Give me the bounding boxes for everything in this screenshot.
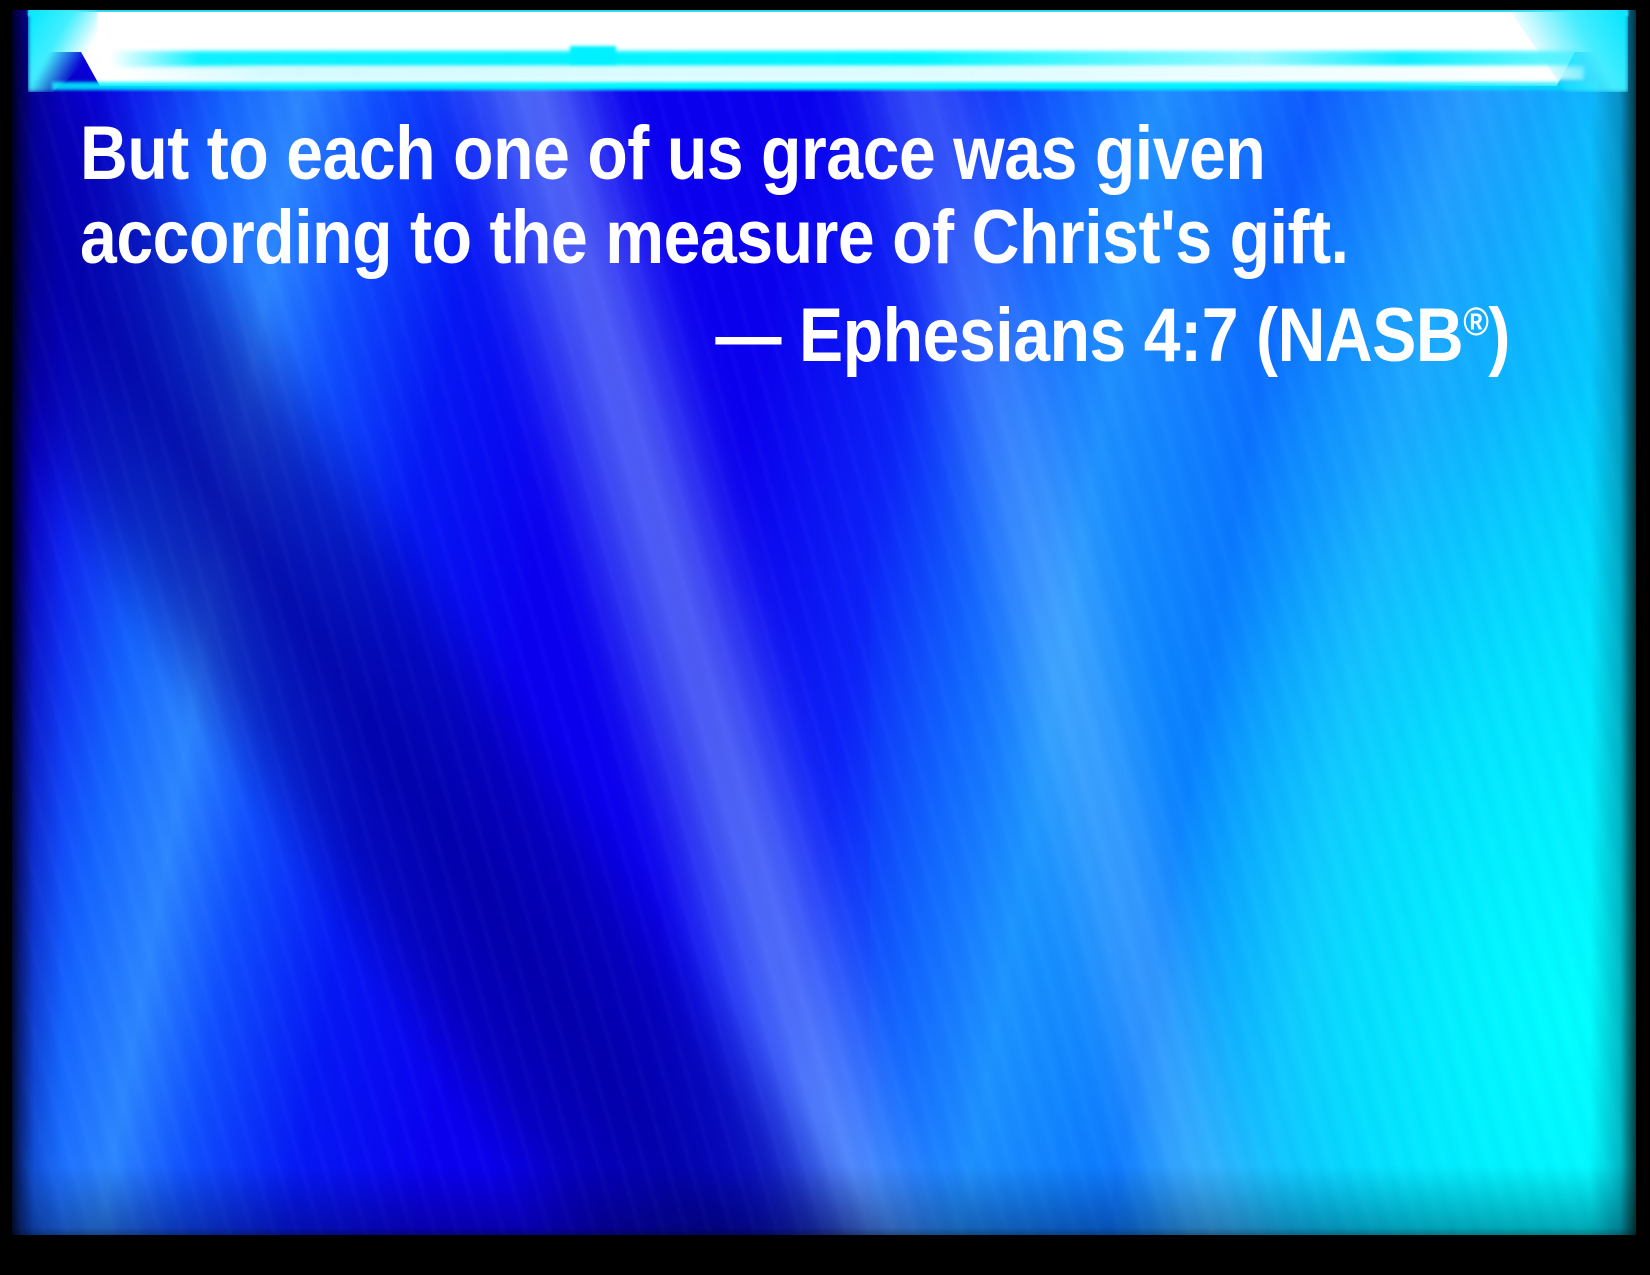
banner-cyan-notch [570, 46, 616, 64]
frame-border-top [0, 0, 1650, 10]
verse-line-1: But to each one of us grace was given [80, 112, 1324, 196]
top-banner [0, 8, 1650, 92]
scripture-slide: But to each one of us grace was given ac… [0, 0, 1650, 1275]
verse-line-2: according to the measure of Christ's gif… [80, 196, 1324, 280]
banner-cyan-bottom-edge [52, 82, 1598, 90]
citation-suffix: ) [1488, 293, 1510, 378]
banner-left-taper [28, 8, 98, 92]
registered-trademark-icon: ® [1463, 300, 1488, 344]
frame-border-bottom [0, 1235, 1650, 1275]
frame-border-left [0, 0, 12, 1275]
citation-prefix: — Ephesians 4:7 (NASB [715, 293, 1463, 378]
frame-border-right [1636, 0, 1650, 1275]
banner-pale-streak [120, 66, 1584, 80]
verse-text-block: But to each one of us grace was given ac… [80, 112, 1510, 378]
verse-citation-line: — Ephesians 4:7 (NASB®) [266, 280, 1510, 378]
banner-cyan-streak [110, 51, 1580, 67]
